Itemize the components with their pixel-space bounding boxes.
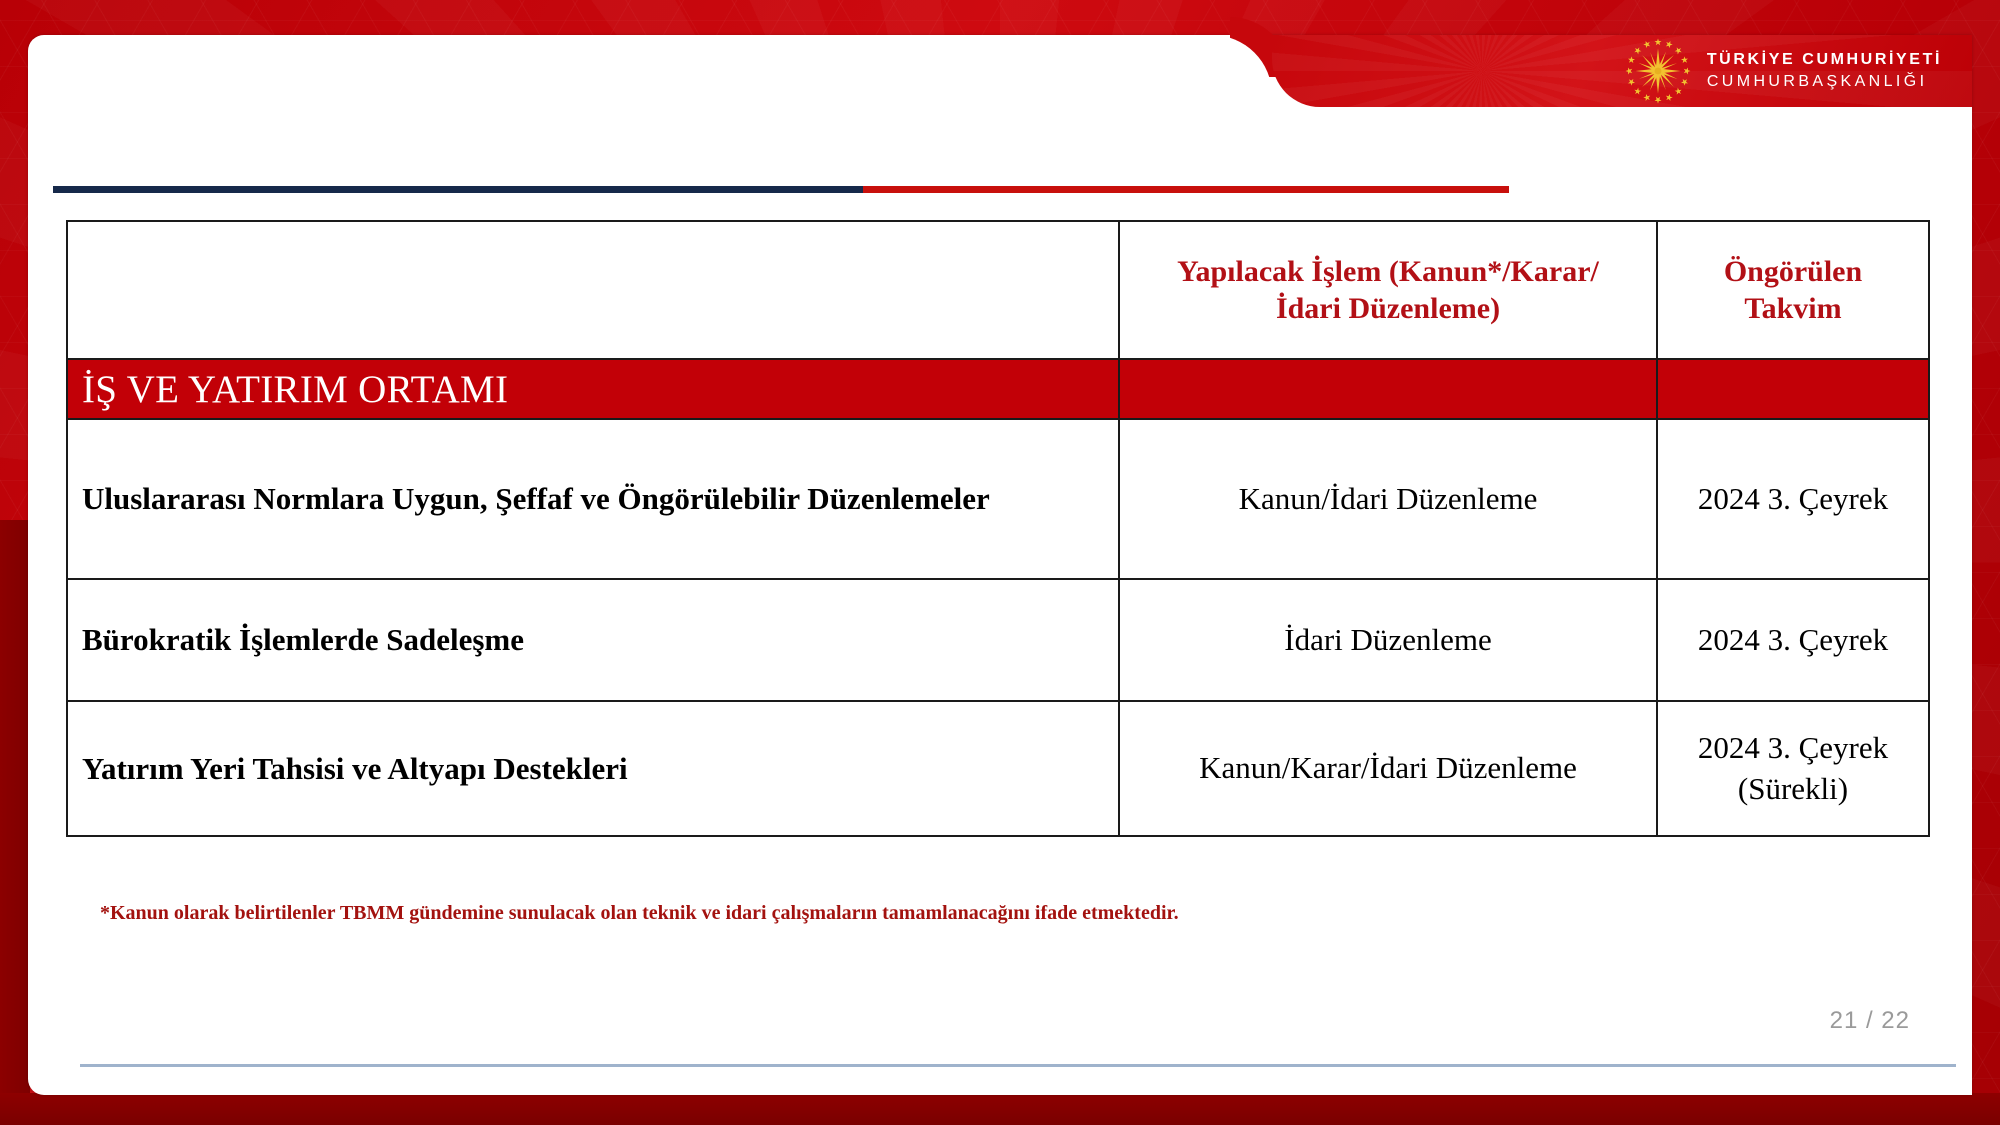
row-date: 2024 3. Çeyrek	[1657, 579, 1929, 701]
header-date-line-1: Öngörülen	[1724, 255, 1862, 288]
row-topic: Uluslararası Normlara Uygun, Şeffaf ve Ö…	[67, 419, 1119, 579]
slide-root: TÜRKİYE CUMHURİYETİ CUMHURBAŞKANLIĞI Yap…	[0, 0, 2000, 1125]
table-footnote: *Kanun olarak belirtilenler TBMM gündemi…	[100, 900, 1800, 926]
schedule-table: Yapılacak İşlem (Kanun*/Karar/ İdari Düz…	[66, 220, 1930, 837]
turkish-presidency-emblem-icon	[1625, 38, 1691, 104]
page-number: 21 / 22	[1830, 1007, 1910, 1035]
accent-rule	[53, 186, 1509, 193]
row-date: 2024 3. Çeyrek (Sürekli)	[1657, 701, 1929, 836]
brand-text: TÜRKİYE CUMHURİYETİ CUMHURBAŞKANLIĞI	[1707, 51, 1942, 91]
table-row: Uluslararası Normlara Uygun, Şeffaf ve Ö…	[67, 419, 1929, 579]
row-date-line-1: 2024 3. Çeyrek	[1698, 730, 1888, 765]
section-spacer-action	[1119, 359, 1657, 419]
brand-line-1: TÜRKİYE CUMHURİYETİ	[1707, 51, 1942, 69]
slide-card: TÜRKİYE CUMHURİYETİ CUMHURBAŞKANLIĞI Yap…	[28, 35, 1972, 1095]
accent-rule-navy	[53, 186, 863, 193]
row-date-line-2: (Sürekli)	[1738, 771, 1848, 806]
footer-rule	[80, 1064, 1956, 1067]
brand-lockup: TÜRKİYE CUMHURİYETİ CUMHURBAŞKANLIĞI	[1272, 35, 1972, 107]
header-cell-action: Yapılacak İşlem (Kanun*/Karar/ İdari Düz…	[1119, 221, 1657, 359]
section-spacer-date	[1657, 359, 1929, 419]
header-action-line-2: İdari Düzenleme)	[1276, 292, 1500, 325]
header-cell-date: Öngörülen Takvim	[1657, 221, 1929, 359]
left-red-strip	[0, 520, 30, 1125]
section-title: İŞ VE YATIRIM ORTAMI	[82, 368, 508, 411]
header-cell-topic	[67, 221, 1119, 359]
brand-line-2: CUMHURBAŞKANLIĞI	[1707, 73, 1942, 91]
bottom-red-strip	[0, 1093, 2000, 1125]
row-date: 2024 3. Çeyrek	[1657, 419, 1929, 579]
table-row: Bürokratik İşlemlerde Sadeleşme İdari Dü…	[67, 579, 1929, 701]
section-title-cell: İŞ VE YATIRIM ORTAMI	[67, 359, 1119, 419]
row-action: Kanun/Karar/İdari Düzenleme	[1119, 701, 1657, 836]
header-band-notch	[1212, 35, 1272, 95]
row-topic: Yatırım Yeri Tahsisi ve Altyapı Destekle…	[67, 701, 1119, 836]
table-row: Yatırım Yeri Tahsisi ve Altyapı Destekle…	[67, 701, 1929, 836]
header-action-line-1: Yapılacak İşlem (Kanun*/Karar/	[1177, 255, 1599, 288]
accent-rule-red	[863, 186, 1509, 193]
header-date-line-2: Takvim	[1744, 292, 1841, 325]
row-action: Kanun/İdari Düzenleme	[1119, 419, 1657, 579]
row-topic: Bürokratik İşlemlerde Sadeleşme	[67, 579, 1119, 701]
table-section-row: İŞ VE YATIRIM ORTAMI	[67, 359, 1929, 419]
row-action: İdari Düzenleme	[1119, 579, 1657, 701]
table-header-row: Yapılacak İşlem (Kanun*/Karar/ İdari Düz…	[67, 221, 1929, 359]
